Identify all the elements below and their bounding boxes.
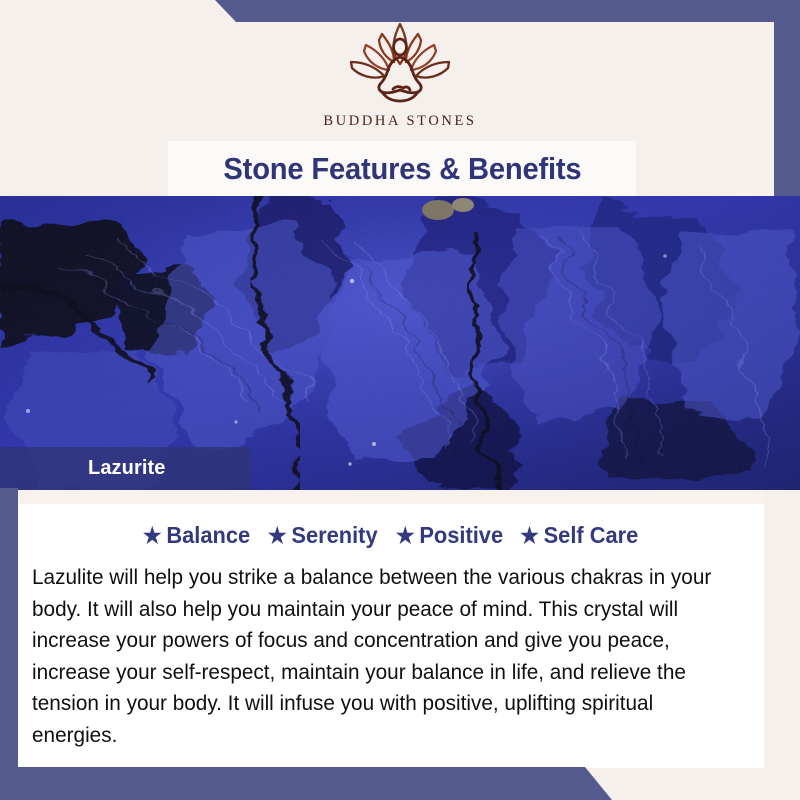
lazurite-stone-image	[0, 196, 800, 490]
brand-logo: BUDDHA STONES	[0, 18, 800, 130]
lotus-meditation-icon	[346, 18, 454, 110]
page-title: Stone Features & Benefits	[223, 151, 581, 187]
benefits-row: ★ Balance ★ Serenity ★ Positive ★ Self C…	[18, 522, 764, 549]
benefit-label: Self Care	[544, 522, 639, 549]
benefit-item-positive: ★ Positive	[395, 522, 502, 549]
benefit-item-self-care: ★ Self Care	[521, 522, 639, 549]
content-card: ★ Balance ★ Serenity ★ Positive ★ Self C…	[18, 490, 764, 768]
stone-name-badge: Lazurite	[0, 447, 250, 490]
decor-right-strip	[774, 0, 800, 196]
decor-bottom-band	[0, 767, 800, 800]
star-icon: ★	[143, 525, 162, 547]
stone-photo	[0, 196, 800, 490]
title-banner: Stone Features & Benefits	[168, 141, 636, 196]
star-icon: ★	[268, 525, 287, 547]
star-icon: ★	[395, 525, 414, 547]
brand-wordmark: BUDDHA STONES	[323, 113, 476, 130]
benefit-item-balance: ★ Balance	[143, 522, 250, 549]
decor-left-strip	[0, 488, 18, 800]
benefit-item-serenity: ★ Serenity	[268, 522, 378, 549]
star-icon: ★	[521, 525, 540, 547]
benefit-label: Positive	[419, 522, 503, 549]
poster-root: BUDDHA STONES	[0, 0, 800, 800]
benefit-label: Balance	[166, 522, 250, 549]
stone-description: Lazulite will help you strike a balance …	[32, 562, 723, 751]
content-top-divider	[18, 490, 764, 504]
benefit-label: Serenity	[291, 522, 377, 549]
stone-name-label: Lazurite	[88, 457, 165, 480]
